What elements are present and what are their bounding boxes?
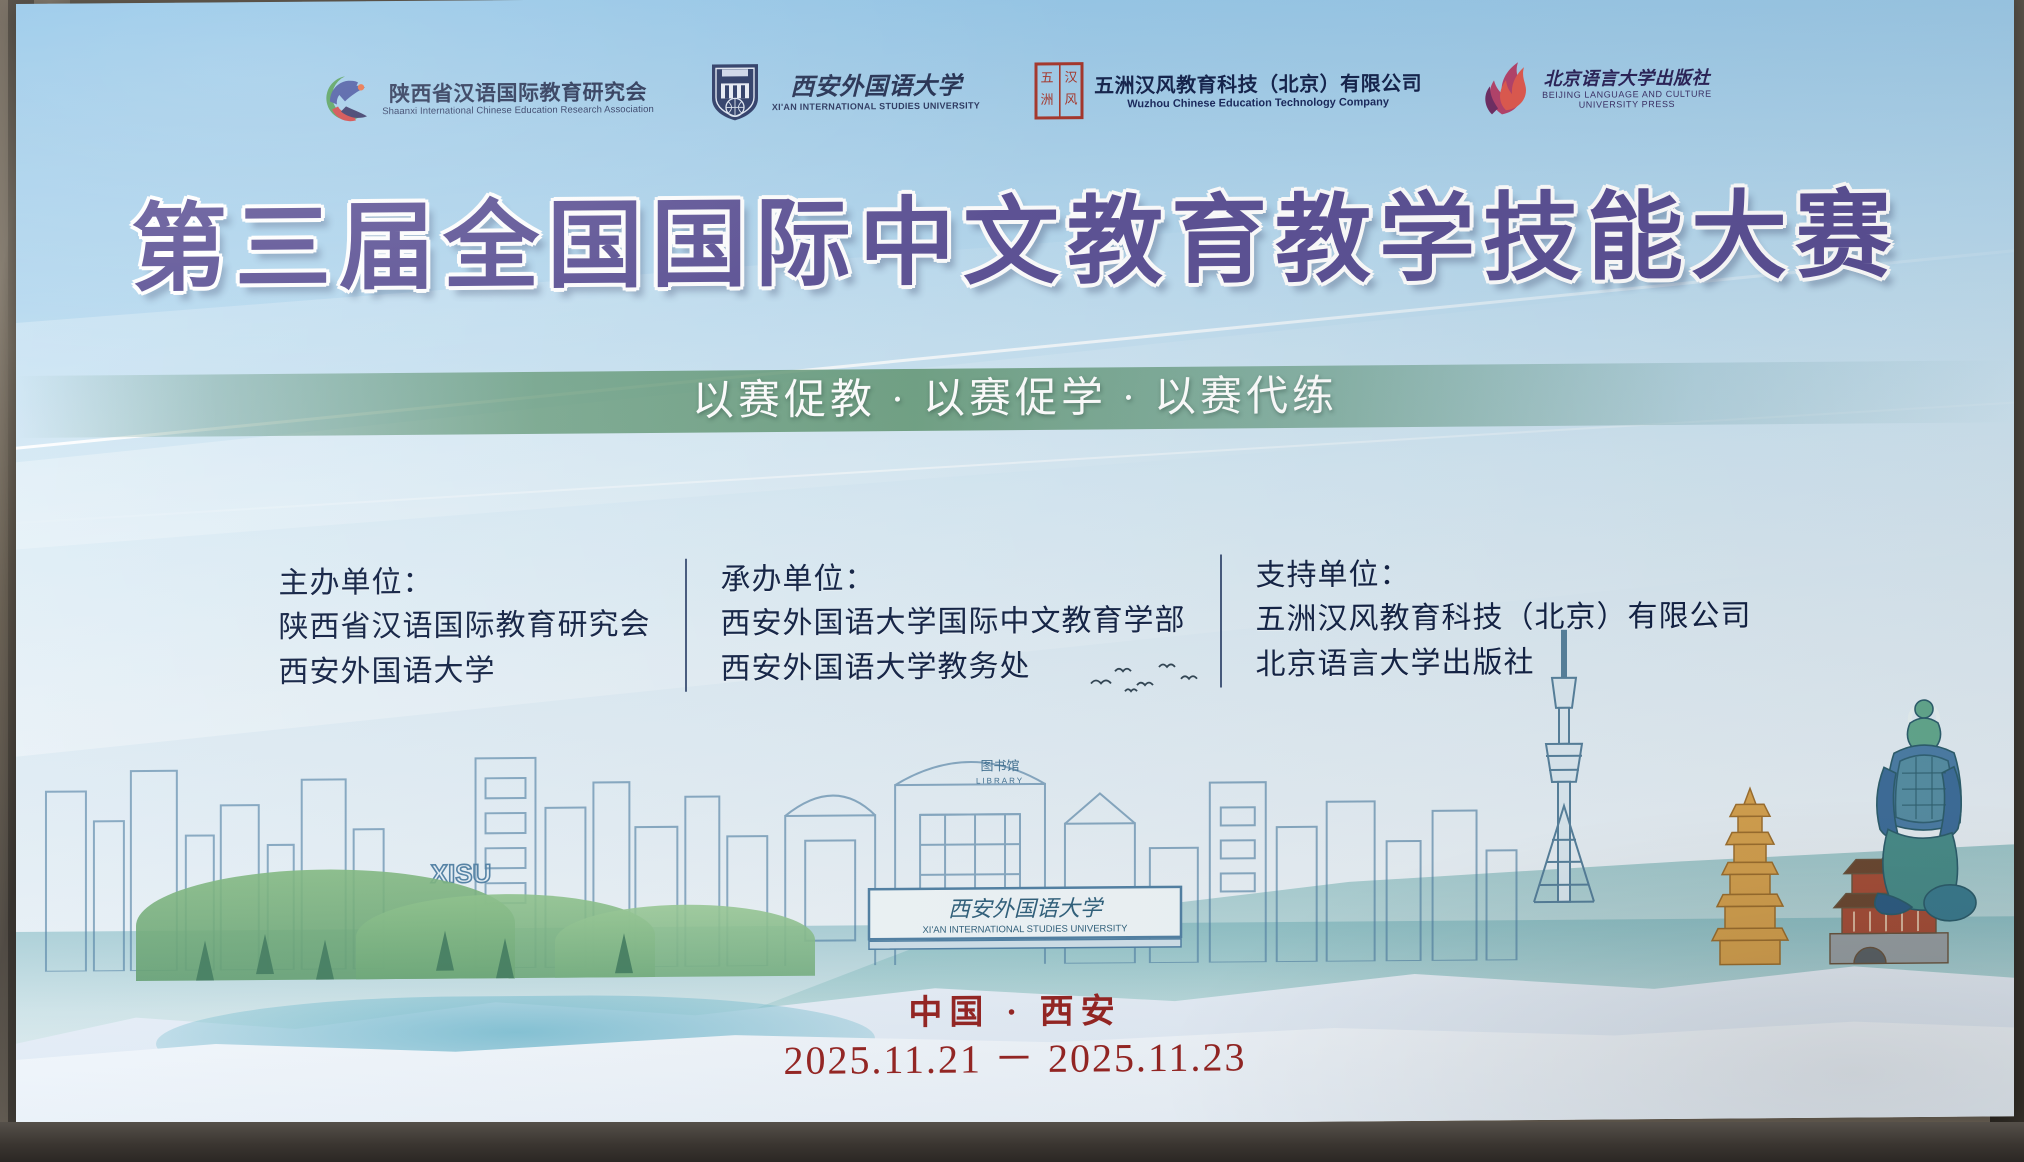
skyline-buildings [16, 656, 2014, 972]
xisu-crest-icon [708, 60, 762, 127]
xisu-wall-mark: XISU [406, 850, 516, 897]
pine-tree [316, 940, 334, 980]
shaanxi-association-logo: 陕西省汉语国际教育研究会 Shaanxi International Chine… [318, 69, 654, 131]
organizer-entry: 五洲汉风教育科技（北京）有限公司 [1256, 595, 1752, 643]
organizer-entry: 陕西省汉语国际教育研究会 [279, 603, 651, 650]
organizer-entry: 西安外国语大学国际中文教育学部 [721, 599, 1186, 647]
event-backdrop-banner: 陕西省汉语国际教育研究会 Shaanxi International Chine… [16, 0, 2014, 1132]
blcup-logo-en-line2: UNIVERSITY PRESS [1579, 99, 1675, 110]
big-wild-goose-pagoda [1704, 786, 1796, 967]
ground-strip [0, 1122, 2024, 1162]
wuzhou-hanfeng-logo: 五 洲 汉 风 五洲汉风教育科技（北京）有限公司 Wuzhou Chinese … [1034, 59, 1422, 125]
organizer-heading: 主办单位： [279, 559, 651, 606]
blcup-logo-en-line1: BEIJING LANGUAGE AND CULTURE [1542, 88, 1712, 99]
blcup-logo: 北京语言大学出版社 BEIJING LANGUAGE AND CULTURE U… [1476, 57, 1712, 122]
wuzhou-hanfeng-logo-en: Wuzhou Chinese Education Technology Comp… [1127, 96, 1389, 110]
organizer-column-host: 主办单位： 陕西省汉语国际教育研究会 西安外国语大学 [245, 559, 685, 696]
pine-tree [496, 938, 514, 978]
library-label-cn: 图书馆 [981, 758, 1020, 773]
organizer-heading: 承办单位： [721, 555, 1186, 603]
organizer-entry: 西安外国语大学 [279, 648, 651, 695]
organizer-column-supporter: 支持单位： 五洲汉风教育科技（北京）有限公司 北京语言大学出版社 [1220, 550, 1786, 688]
pine-tree [436, 931, 454, 971]
organizer-columns: 主办单位： 陕西省汉语国际教育研究会 西安外国语大学 承办单位： 西安外国语大学… [16, 548, 2014, 697]
green-hill [555, 904, 815, 978]
svg-text:风: 风 [1065, 92, 1078, 107]
photo-scene: 陕西省汉语国际教育研究会 Shaanxi International Chine… [0, 0, 2024, 1162]
campus-sign-cn: 西安外国语大学 [948, 895, 1105, 921]
shaanxi-association-logo-en: Shaanxi International Chinese Education … [382, 105, 654, 118]
event-footer: 中国 · 西安 2025.11.21 － 2025.11.23 [16, 984, 2014, 1092]
blcup-flame-icon [1476, 58, 1532, 121]
sponsor-logo-row: 陕西省汉语国际教育研究会 Shaanxi International Chine… [16, 50, 2014, 133]
organizer-column-undertaker: 承办单位： 西安外国语大学国际中文教育学部 西安外国语大学教务处 [685, 555, 1220, 692]
green-hill [136, 868, 516, 981]
svg-text:五: 五 [1041, 70, 1054, 85]
xisu-logo-en: XI'AN INTERNATIONAL STUDIES UNIVERSITY [772, 100, 980, 112]
shaanxi-association-mark-icon [318, 71, 372, 130]
event-title: 第三届全国国际中文教育教学技能大赛 [16, 156, 2014, 311]
wuzhou-hanfeng-logo-cn: 五洲汉风教育科技（北京）有限公司 [1094, 73, 1422, 98]
svg-text:汉: 汉 [1065, 70, 1078, 85]
organizer-entry: 北京语言大学出版社 [1256, 639, 1752, 687]
blcup-logo-cn: 北京语言大学出版社 [1544, 68, 1711, 89]
library-label-en: LIBRARY [976, 776, 1024, 785]
campus-entrance-sign: 西安外国语大学 XI'AN INTERNATIONAL STUDIES UNIV… [865, 881, 1185, 958]
green-hill [356, 893, 656, 979]
svg-text:洲: 洲 [1041, 92, 1054, 107]
organizer-entry: 西安外国语大学教务处 [721, 644, 1186, 692]
pine-tree [615, 933, 633, 973]
library-label: 图书馆 LIBRARY [925, 754, 1075, 795]
pine-tree [256, 934, 274, 974]
xisu-logo-cn: 西安外国语大学 [790, 74, 962, 102]
shaanxi-association-logo-cn: 陕西省汉语国际教育研究会 [389, 81, 647, 107]
terracotta-warrior [1854, 697, 1984, 948]
wuzhou-hanfeng-seal-icon: 五 洲 汉 风 [1034, 62, 1084, 125]
campus-sign-en: XI'AN INTERNATIONAL STUDIES UNIVERSITY [923, 923, 1129, 936]
xisu-wall-mark-text: XISU [430, 858, 491, 888]
pine-tree [196, 940, 214, 980]
xian-bell-tower [1824, 837, 1954, 968]
xisu-logo: 西安外国语大学 XI'AN INTERNATIONAL STUDIES UNIV… [708, 58, 980, 127]
organizer-heading: 支持单位： [1256, 550, 1752, 598]
